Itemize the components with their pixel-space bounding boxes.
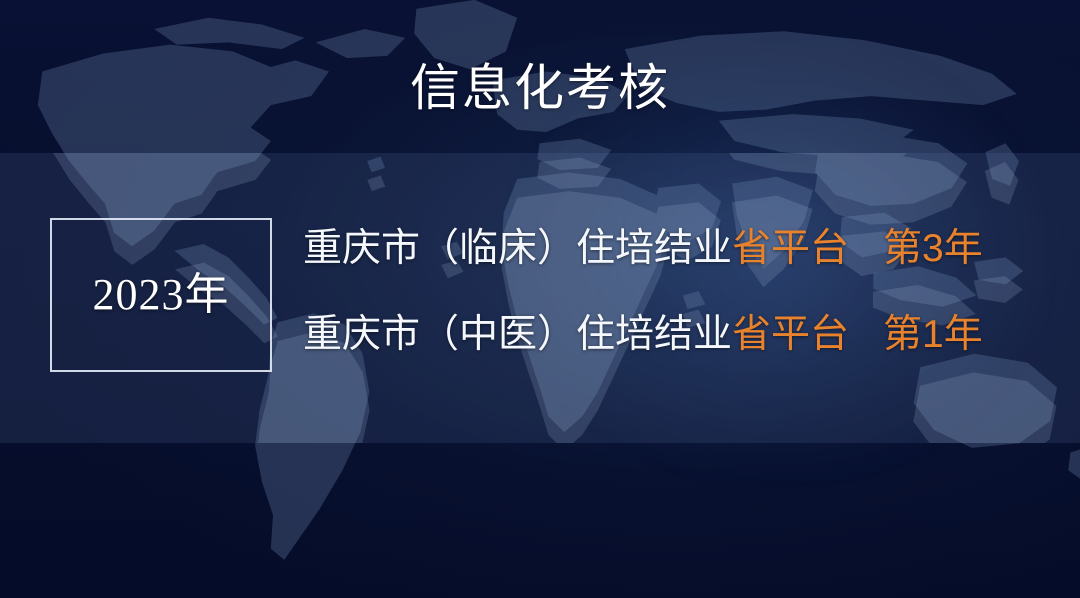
- assessment-list: 重庆市（临床）住培结业省平台第3年 重庆市（中医）住培结业省平台第1年: [303, 226, 1043, 358]
- row-0-description: 重庆市（临床）住培结业: [303, 227, 732, 270]
- list-item: 重庆市（中医）住培结业省平台第1年: [303, 312, 1043, 358]
- list-item: 重庆市（临床）住培结业省平台第3年: [303, 226, 1043, 272]
- row-0-platform: 省平台: [732, 227, 849, 270]
- row-0-rank: 第3年: [883, 227, 983, 270]
- year-badge: 2023年: [50, 218, 272, 372]
- row-1-description: 重庆市（中医）住培结业: [303, 313, 732, 356]
- page-title: 信息化考核: [0, 60, 1080, 116]
- row-1-rank: 第1年: [883, 313, 983, 356]
- slide-canvas: 信息化考核 2023年 重庆市（临床）住培结业省平台第3年 重庆市（中医）住培结…: [0, 0, 1080, 598]
- year-badge-label: 2023年: [93, 269, 230, 321]
- row-1-platform: 省平台: [732, 313, 849, 356]
